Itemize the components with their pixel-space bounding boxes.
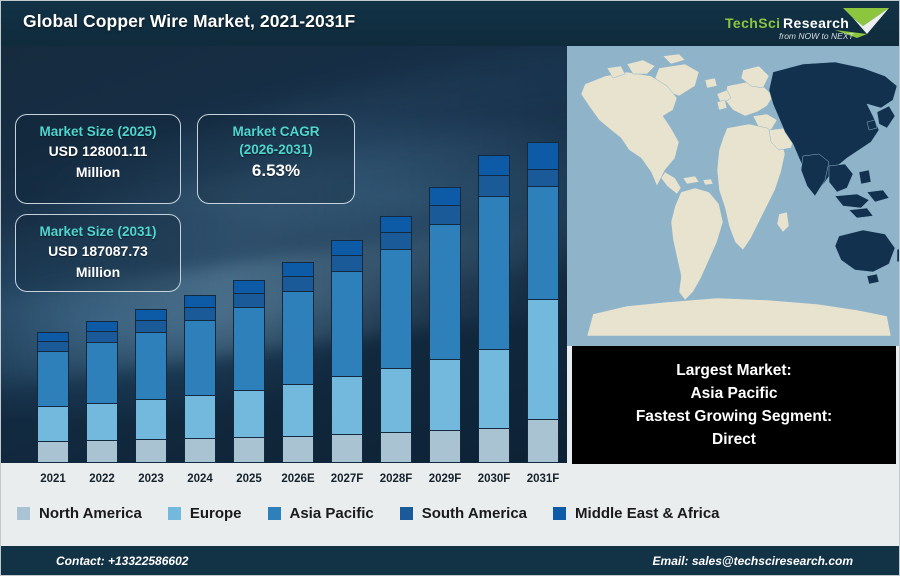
stat-value: USD 187087.73 (26, 241, 170, 261)
legend-item-middle-east-africa[interactable]: Middle East & Africa (553, 505, 719, 522)
legend-label: South America (422, 505, 527, 522)
bar-segment-ap (331, 271, 363, 377)
bar-segment-na (282, 436, 314, 463)
x-axis-tick-2022: 2022 (76, 473, 128, 485)
largest-market-label: Largest Market: (676, 359, 791, 382)
contact-email: Email: sales@techsciresearch.com (653, 554, 853, 568)
world-map-panel (567, 46, 900, 346)
legend-swatch-icon (268, 507, 281, 520)
legend-item-asia-pacific[interactable]: Asia Pacific (268, 505, 374, 522)
bar-segment-eu (282, 384, 314, 437)
legend-swatch-icon (400, 507, 413, 520)
legend-item-north-america[interactable]: North America (17, 505, 142, 522)
bar-segment-mea (331, 240, 363, 256)
stat-unit: Million (26, 162, 170, 182)
bar-2025 (233, 281, 265, 463)
bar-segment-na (478, 428, 510, 463)
bar-segment-na (37, 441, 69, 463)
logo-tagline: from NOW to NEXT (779, 31, 854, 41)
bar-segment-mea (478, 155, 510, 176)
bar-2023 (135, 310, 167, 463)
x-axis-tick-2030F: 2030F (468, 473, 520, 485)
x-axis-tick-2028F: 2028F (370, 473, 422, 485)
chart-panel: 202120222023202420252026E2027F2028F2029F… (1, 46, 567, 489)
x-axis-tick-2029F: 2029F (419, 473, 471, 485)
bar-segment-na (429, 430, 461, 463)
bar-segment-mea (233, 280, 265, 294)
bar-2022 (86, 322, 118, 463)
bar-segment-eu (184, 395, 216, 439)
legend-label: Middle East & Africa (575, 505, 719, 522)
stat-box-market-size-2031: Market Size (2031) USD 187087.73 Million (15, 214, 181, 292)
bar-2028F (380, 217, 412, 463)
legend-label: Europe (190, 505, 242, 522)
bar-segment-mea (429, 187, 461, 206)
bar-segment-na (135, 439, 167, 463)
legend-swatch-icon (17, 507, 30, 520)
stat-value: 6.53% (208, 159, 344, 184)
bar-2026E (282, 263, 314, 463)
bar-segment-na (86, 440, 118, 463)
key-insights-box: Largest Market: Asia Pacific Fastest Gro… (572, 346, 896, 464)
bar-segment-na (184, 438, 216, 463)
legend-swatch-icon (168, 507, 181, 520)
x-axis-tick-2027F: 2027F (321, 473, 373, 485)
bar-segment-eu (86, 403, 118, 441)
bar-segment-mea (282, 262, 314, 277)
bar-segment-eu (380, 368, 412, 433)
bar-segment-sa (527, 169, 559, 187)
bar-segment-ap (282, 291, 314, 385)
legend-item-south-america[interactable]: South America (400, 505, 527, 522)
bar-segment-na (233, 437, 265, 463)
logo-name-part2: Research (783, 15, 849, 31)
bar-segment-eu (429, 359, 461, 431)
x-axis-labels: 202120222023202420252026E2027F2028F2029F… (1, 463, 567, 489)
bar-2031F (527, 143, 559, 463)
fastest-growing-segment-label: Fastest Growing Segment: (636, 405, 832, 428)
x-axis-tick-2025: 2025 (223, 473, 275, 485)
bar-2021 (37, 333, 69, 463)
largest-market-value: Asia Pacific (690, 382, 777, 405)
stat-label: Market CAGR (208, 123, 344, 141)
bar-segment-sa (478, 175, 510, 197)
bar-2024 (184, 296, 216, 463)
footer-bar: Contact: +13322586602 Email: sales@techs… (1, 546, 900, 576)
bar-segment-sa (282, 276, 314, 292)
fastest-growing-segment-value: Direct (712, 428, 756, 451)
bar-segment-sa (184, 307, 216, 321)
bar-segment-ap (429, 224, 461, 360)
page-title: Global Copper Wire Market, 2021-2031F (23, 11, 355, 32)
stat-label: Market Size (2031) (26, 223, 170, 241)
chart-legend: North AmericaEuropeAsia PacificSouth Ame… (1, 489, 900, 537)
bar-2029F (429, 188, 461, 463)
bar-segment-sa (380, 232, 412, 250)
stat-box-market-cagr: Market CAGR (2026-2031) 6.53% (197, 114, 355, 204)
techsci-research-logo: TechSci Research from NOW to NEXT (717, 4, 895, 46)
bar-segment-eu (233, 390, 265, 438)
bar-2027F (331, 241, 363, 463)
bar-segment-eu (527, 299, 559, 420)
header-bar: Global Copper Wire Market, 2021-2031F Te… (1, 1, 900, 46)
bar-segment-sa (331, 255, 363, 272)
legend-label: Asia Pacific (290, 505, 374, 522)
bar-segment-ap (135, 332, 167, 400)
x-axis-tick-2031F: 2031F (517, 473, 567, 485)
bar-segment-ap (233, 307, 265, 391)
stat-label-period: (2026-2031) (208, 141, 344, 159)
legend-label: North America (39, 505, 142, 522)
stat-label: Market Size (2025) (26, 123, 170, 141)
contact-phone: Contact: +13322586602 (56, 554, 188, 568)
world-map-svg (567, 46, 900, 346)
bar-segment-eu (478, 349, 510, 429)
bar-segment-sa (233, 293, 265, 308)
bar-segment-eu (135, 399, 167, 440)
bar-segment-eu (37, 406, 69, 442)
stat-unit: Million (26, 262, 170, 282)
legend-item-europe[interactable]: Europe (168, 505, 242, 522)
bar-segment-na (380, 432, 412, 463)
bar-segment-ap (37, 351, 69, 407)
x-axis-tick-2021: 2021 (27, 473, 79, 485)
legend-swatch-icon (553, 507, 566, 520)
infographic-root: Global Copper Wire Market, 2021-2031F Te… (0, 0, 900, 576)
bar-segment-mea (527, 142, 559, 170)
bar-2030F (478, 156, 510, 463)
bar-segment-mea (380, 216, 412, 233)
x-axis-tick-2026E: 2026E (272, 473, 324, 485)
x-axis-tick-2024: 2024 (174, 473, 226, 485)
logo-name-part1: TechSci (725, 15, 780, 31)
bar-segment-ap (527, 186, 559, 300)
stat-box-market-size-2025: Market Size (2025) USD 128001.11 Million (15, 114, 181, 204)
bar-segment-na (527, 419, 559, 463)
bar-segment-ap (184, 320, 216, 396)
x-axis-tick-2023: 2023 (125, 473, 177, 485)
bar-segment-sa (429, 205, 461, 225)
bar-segment-ap (380, 249, 412, 369)
bar-segment-na (331, 434, 363, 463)
bar-segment-ap (478, 196, 510, 350)
stat-value: USD 128001.11 (26, 141, 170, 161)
bar-segment-eu (331, 376, 363, 435)
bar-segment-ap (86, 342, 118, 404)
